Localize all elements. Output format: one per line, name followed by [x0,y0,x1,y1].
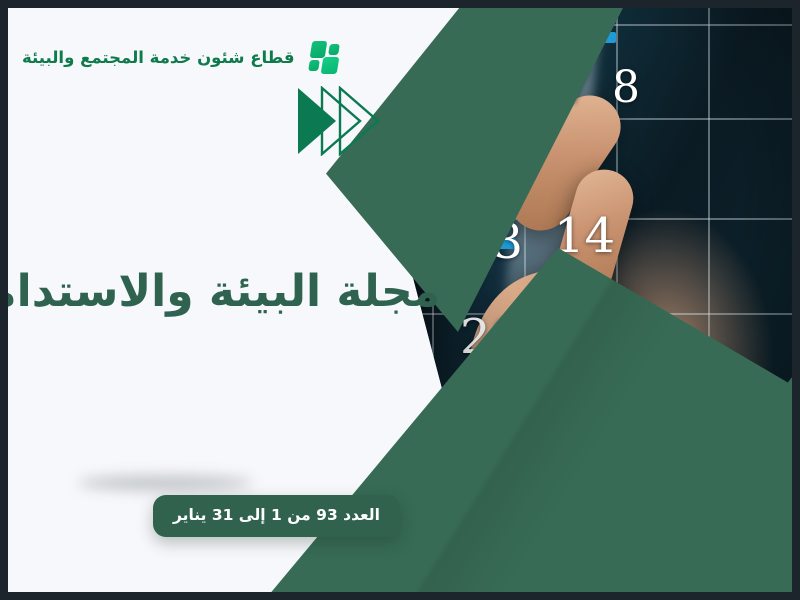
page-title: مجلة البيئة والاستدامة [20,266,440,319]
header-brand-lockup: قطاع شئون خدمة المجتمع والبيئة [22,40,345,74]
calendar-day-number: 8 [612,66,640,110]
triple-chevron-right-icon [296,86,380,156]
brand-name-label: قطاع شئون خدمة المجتمع والبيئة [22,48,295,67]
triple-chevron-svg [296,86,380,156]
badge-drop-shadow [78,476,253,490]
four-tile-blocks-logo-icon [309,40,345,74]
issue-date-badge: العدد 93 من 1 إلى 31 يناير [153,495,400,537]
magazine-cover-slide: 6 7 8 13 14 20 قطاع شئون خدمة المجتمع وا… [0,0,800,600]
slide-canvas: 6 7 8 13 14 20 قطاع شئون خدمة المجتمع وا… [8,8,792,592]
